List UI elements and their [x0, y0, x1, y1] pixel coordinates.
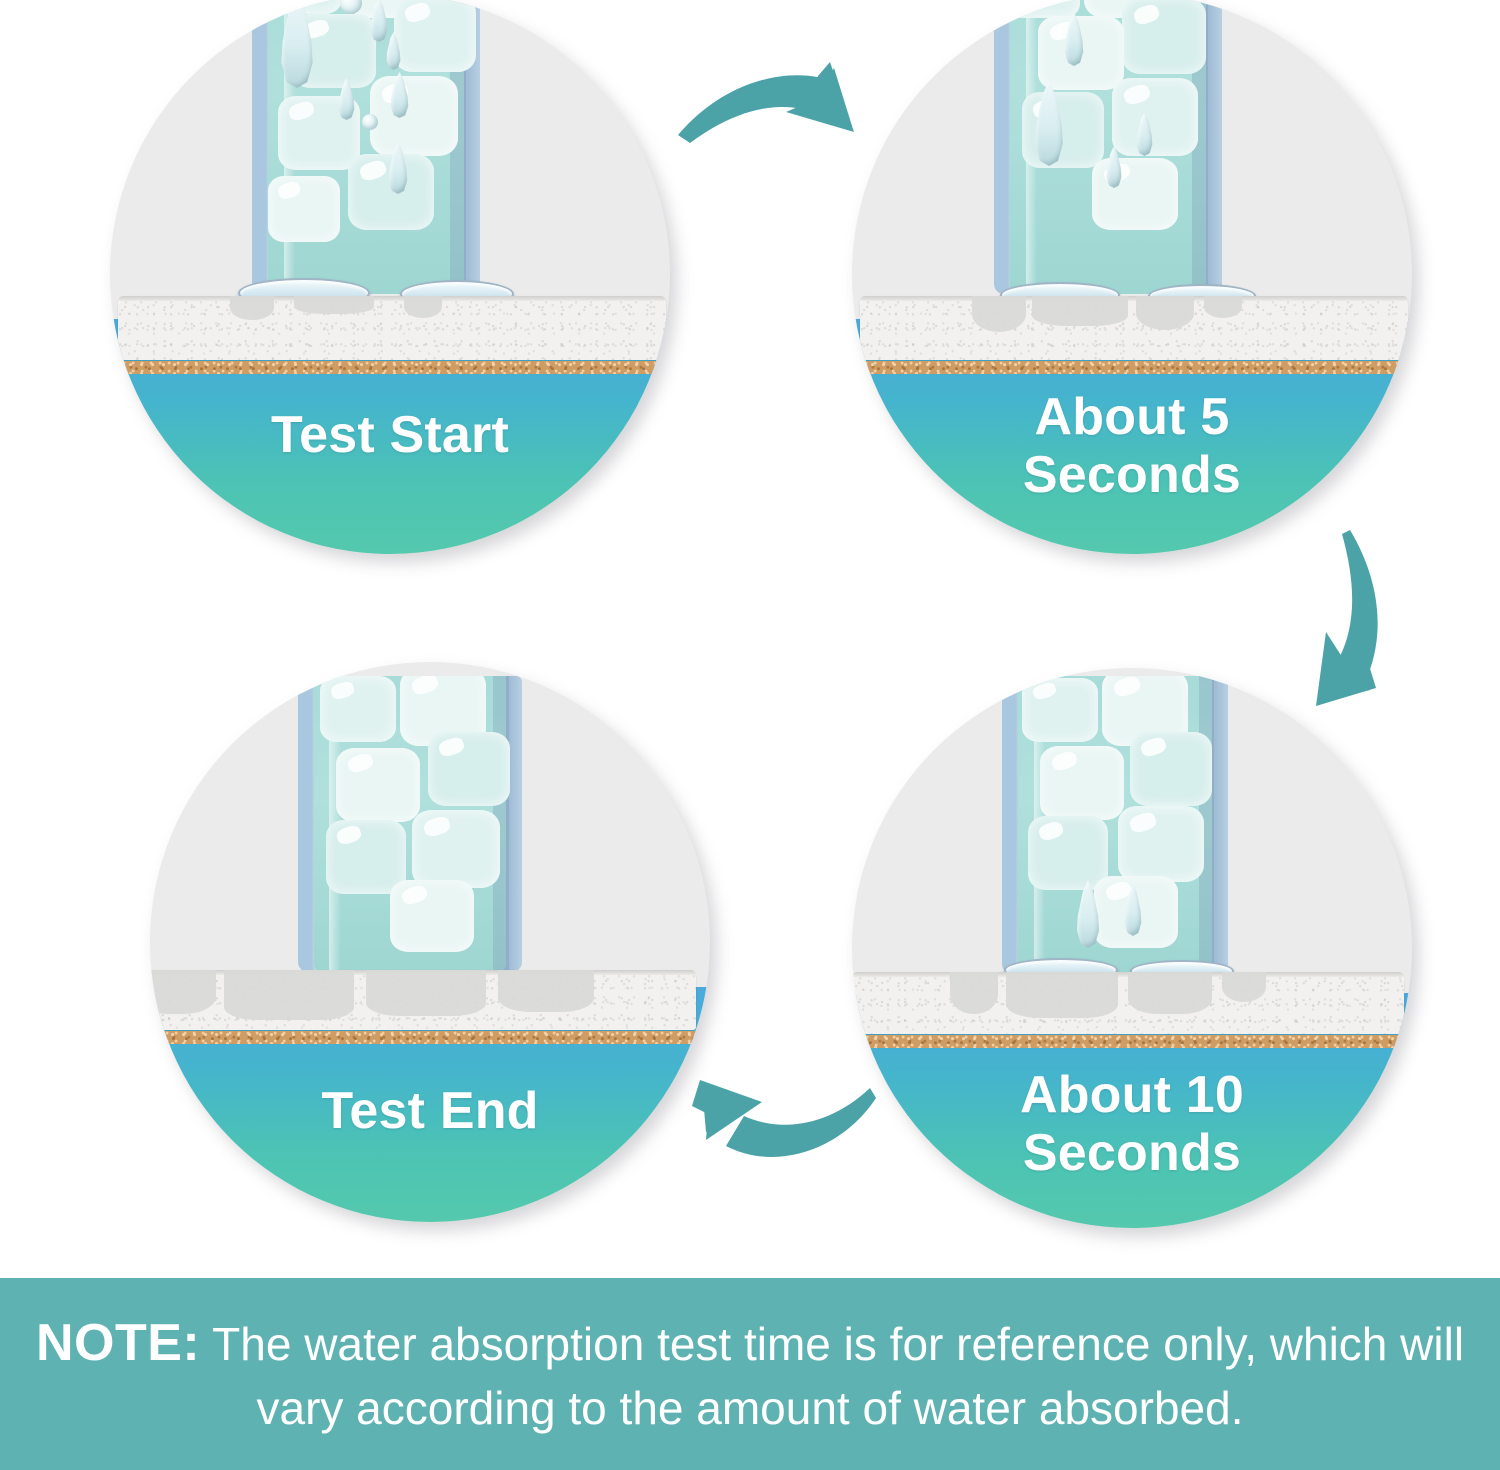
ice-cube — [320, 676, 396, 742]
absorption-stain — [1128, 972, 1212, 1014]
arrow-down-right — [1288, 520, 1418, 720]
ice-cube — [1040, 746, 1124, 820]
ice-cube — [390, 880, 474, 952]
ice-cube — [1122, 0, 1206, 74]
water-bubble — [362, 114, 378, 130]
coaster-cork-base — [150, 1031, 696, 1044]
absorption-stain — [230, 296, 274, 320]
ice-cube — [336, 748, 420, 822]
infographic-stage: Test Start — [0, 0, 1500, 1470]
absorption-stain — [224, 970, 354, 1020]
stone-coaster — [150, 970, 696, 1044]
ice-cube — [412, 810, 500, 888]
stone-coaster — [860, 296, 1408, 374]
absorption-stain — [950, 972, 998, 1014]
step-caption: Test End — [150, 1082, 710, 1140]
step-caption-line1: About 10 — [852, 1066, 1412, 1124]
coaster-stone-body — [860, 296, 1408, 360]
step-caption-line1: About 5 — [852, 388, 1412, 446]
ice-cube — [1130, 732, 1212, 806]
note-body: The water absorption test time is for re… — [212, 1318, 1464, 1434]
absorption-stain — [366, 970, 486, 1016]
arrow-right-top — [668, 40, 888, 150]
ice-cube — [1112, 78, 1198, 156]
absorption-stain — [1006, 972, 1118, 1018]
absorption-stain — [1032, 296, 1128, 326]
coaster-stone-body — [150, 970, 696, 1030]
ice-cube — [326, 820, 406, 894]
absorption-stain — [294, 296, 374, 314]
note-text: NOTE: The water absorption test time is … — [35, 1309, 1465, 1438]
ice-cube — [1092, 158, 1178, 230]
stone-coaster — [852, 972, 1404, 1048]
arrow-left-bottom — [664, 1062, 894, 1182]
note-bar: NOTE: The water absorption test time is … — [0, 1278, 1500, 1470]
coaster-stone-body — [118, 296, 666, 360]
absorption-stain — [150, 970, 216, 1014]
glass-of-ice — [994, 0, 1222, 294]
note-label: NOTE: — [36, 1314, 200, 1372]
step-card-test-start: Test Start — [110, 0, 670, 554]
ice-cube — [1022, 92, 1104, 168]
glass-of-ice — [252, 0, 480, 294]
glass-of-ice — [298, 676, 522, 972]
glass-of-ice — [1002, 676, 1228, 974]
coaster-stone-body — [852, 972, 1404, 1034]
step-card-5-seconds: About 5 Seconds — [852, 0, 1412, 554]
absorption-stain — [498, 970, 594, 1012]
ice-cube — [370, 76, 458, 156]
absorption-stain — [1222, 972, 1266, 1002]
ice-cube — [268, 176, 340, 242]
coaster-cork-base — [118, 361, 666, 374]
ice-cube — [1118, 806, 1204, 882]
absorption-stain — [972, 296, 1026, 332]
step-card-10-seconds: About 10 Seconds — [852, 668, 1412, 1228]
ice-cube — [1028, 816, 1108, 890]
step-caption-line2: Seconds — [852, 1124, 1412, 1182]
absorption-stain — [404, 296, 442, 318]
stone-coaster — [118, 296, 666, 374]
step-caption-line2: Seconds — [852, 446, 1412, 504]
ice-cube — [1022, 678, 1098, 742]
coaster-cork-base — [860, 361, 1408, 374]
step-card-test-end: Test End — [150, 662, 710, 1222]
coaster-cork-base — [852, 1035, 1404, 1048]
absorption-stain — [1136, 296, 1194, 330]
step-caption: Test Start — [110, 406, 670, 464]
ice-cube — [428, 732, 510, 806]
absorption-stain — [1204, 296, 1242, 318]
ice-cube — [394, 0, 476, 72]
